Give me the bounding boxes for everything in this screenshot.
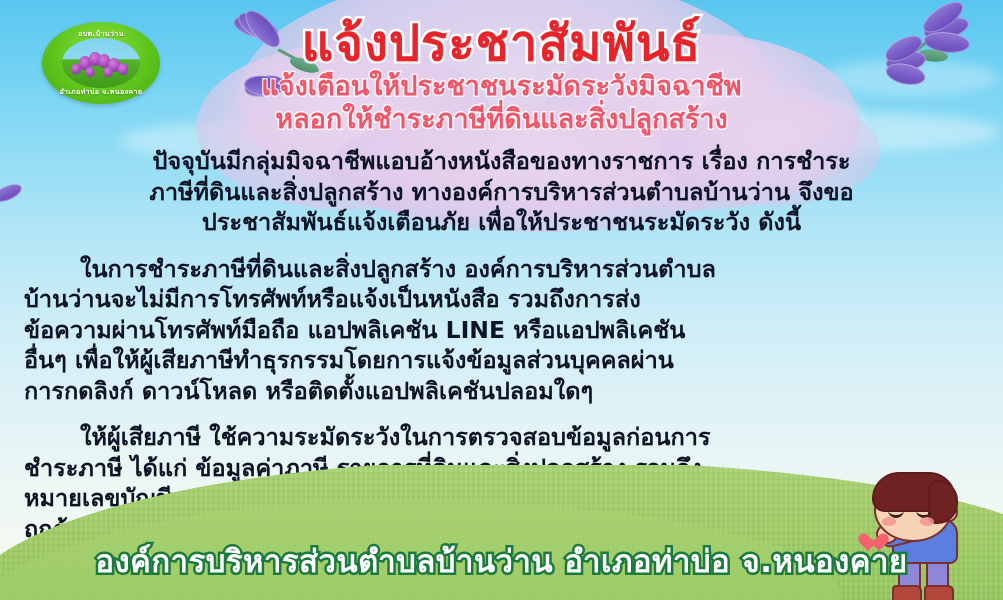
subtitle-line: หลอกให้ชำระภาษีที่ดินและสิ่งปลูกสร้าง [0,104,1003,137]
cloud-shape [600,86,860,140]
heart-icon [868,534,888,552]
paragraph-line: ข้อความผ่านโทรศัพท์มือถือ แอปพลิเคชัน LI… [24,316,685,344]
paragraph-line: ปัจจุบันมีกลุ่มมิจฉาชีพแอบอ้างหนังสือของ… [152,147,850,175]
paragraph-line: อื่นๆ เพื่อให้ผู้เสียภาษีทำธุรกรรมโดยการ… [24,346,674,374]
paragraph-line: ในการชำระภาษีที่ดินและสิ่งปลูกสร้าง องค์… [80,255,716,283]
grass-hill [0,465,1003,600]
logo-bottom-text: อำเภอท่าบ่อ จ.หนองคาย [42,87,160,98]
organization-logo: อบต.บ้านว่าน อำเภอท่าบ่อ จ.หนองคาย [42,22,160,104]
boy-shoe-left [892,585,922,600]
logo-flowers-icon [68,47,133,77]
paragraph-2: ในการชำระภาษีที่ดินและสิ่งปลูกสร้าง องค์… [24,254,979,407]
logo-inner-scene [62,38,140,87]
cloud-shape [820,60,1000,96]
boy-cheek-left [882,517,896,526]
paragraph-line: ประชาสัมพันธ์แจ้งเตือนภัย เพื่อให้ประชาช… [202,208,801,236]
paragraph-line: การกดลิงก์ ดาวน์โหลด หรือติดตั้งแอปพลิเค… [24,377,593,405]
announcement-poster: อบต.บ้านว่าน อำเภอท่าบ่อ จ.หนองคาย แจ้งป… [0,0,1003,600]
paragraph-1: ปัจจุบันมีกลุ่มมิจฉาชีพแอบอ้างหนังสือของ… [24,146,979,238]
cartoon-boy-character [862,472,997,600]
boy-shoe-right [924,585,954,600]
paragraph-line: ให้ผู้เสียภาษี ใช้ความระมัดระวังในการตรว… [80,423,711,451]
logo-top-text: อบต.บ้านว่าน [42,29,160,40]
paragraph-line: บ้านว่านจะไม่มีการโทรศัพท์หรือแจ้งเป็นหน… [24,285,641,313]
boy-cheek-right [920,517,934,526]
paragraph-line: ภาษีที่ดินและสิ่งปลูกสร้าง ทางองค์การบริ… [149,178,853,206]
